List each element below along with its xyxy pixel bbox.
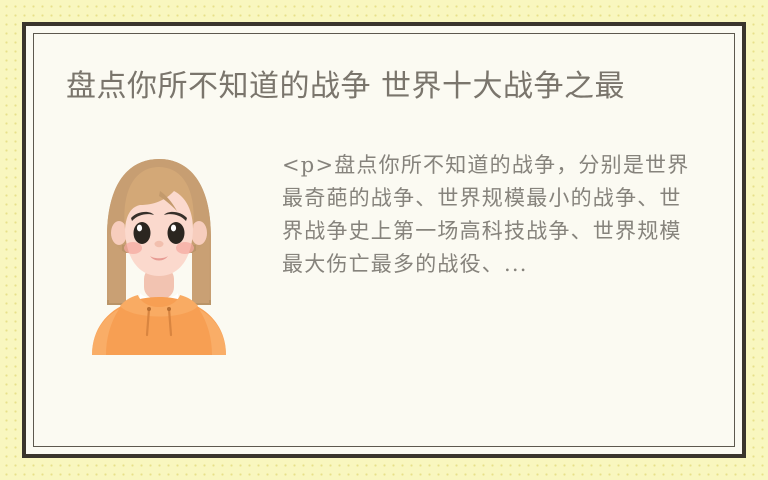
article-content-row: <p>盘点你所不知道的战争，分别是世界最奇葩的战争、世界规模最小的战争、世界战争… bbox=[66, 145, 702, 355]
article-title: 盘点你所不知道的战争 世界十大战争之最 bbox=[66, 64, 702, 109]
article-card-inner-border: 盘点你所不知道的战争 世界十大战争之最 bbox=[33, 33, 735, 447]
article-card-body: 盘点你所不知道的战争 世界十大战争之最 bbox=[34, 34, 734, 446]
article-card-frame: 盘点你所不知道的战争 世界十大战争之最 bbox=[22, 22, 746, 458]
avatar-illustration-icon bbox=[74, 145, 244, 355]
article-thumbnail bbox=[74, 145, 244, 355]
article-excerpt: <p>盘点你所不知道的战争，分别是世界最奇葩的战争、世界规模最小的战争、世界战争… bbox=[282, 149, 702, 281]
article-preview-page: { "theme": { "page_background": "#f9f7bf… bbox=[0, 0, 768, 480]
